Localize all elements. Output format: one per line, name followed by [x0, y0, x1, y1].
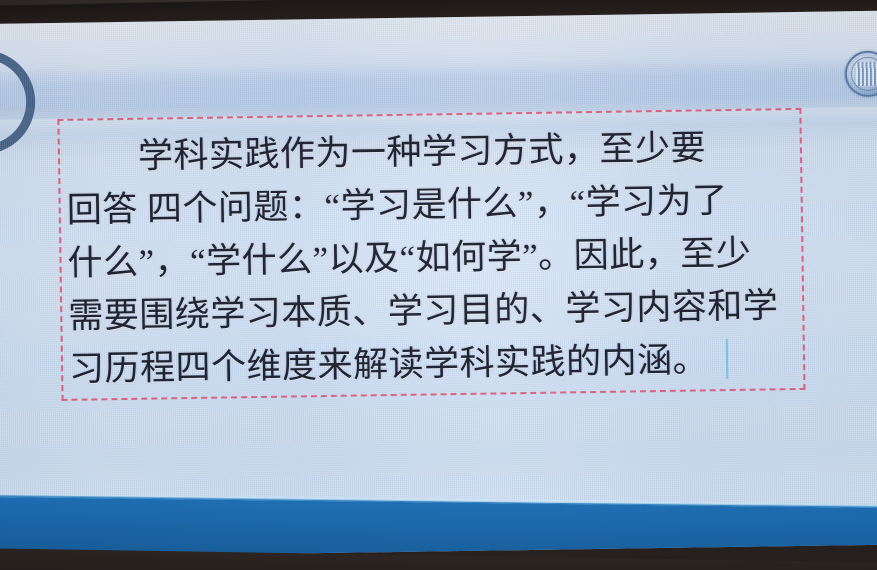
dashed-text-box[interactable]: 学科实践作为一种学习方式，至少要 回答 四个问题：“学习是什么”，“学习为了 什…	[57, 108, 805, 401]
text-cursor-caret	[726, 339, 729, 379]
circle-ring-decoration-icon	[0, 49, 36, 155]
projection-screen-photo: 学科实践作为一种学习方式，至少要 回答 四个问题：“学习是什么”，“学习为了 什…	[0, 0, 877, 570]
emblem-inner-mark	[856, 62, 877, 86]
presentation-slide: 学科实践作为一种学习方式，至少要 回答 四个问题：“学习是什么”，“学习为了 什…	[0, 11, 877, 558]
slide-text-line-5: 习历程四个维度来解读学科实践的内涵。	[69, 340, 709, 388]
slide-text-line-5-wrap: 习历程四个维度来解读学科实践的内涵。	[69, 332, 798, 396]
